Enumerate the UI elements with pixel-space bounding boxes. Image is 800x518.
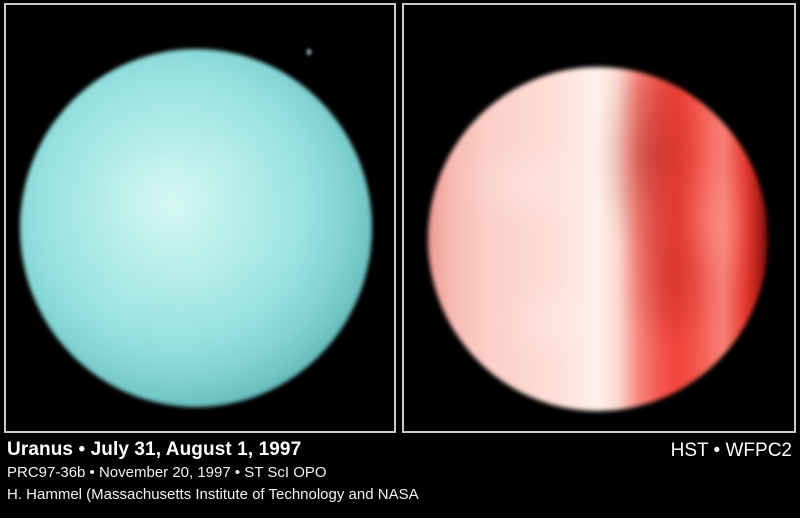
image-panel-visible-light[interactable]	[4, 3, 396, 433]
image-panel-near-infrared[interactable]	[402, 3, 796, 433]
sky-background-infrared	[404, 5, 794, 431]
release-id-line: PRC97-36b • November 20, 1997 • ST ScI O…	[7, 462, 627, 484]
credit-line: H. Hammel (Massachusetts Institute of Te…	[7, 484, 627, 506]
uranus-cloud-mottle-visible	[20, 49, 372, 407]
uranus-moon-icon	[306, 46, 312, 58]
caption-block: Uranus • July 31, August 1, 1997 PRC97-3…	[0, 434, 800, 518]
page-title: Uranus • July 31, August 1, 1997	[7, 438, 627, 462]
sky-background-visible	[6, 5, 394, 431]
uranus-cloud-bands-infrared	[428, 67, 768, 411]
caption-text-group: Uranus • July 31, August 1, 1997 PRC97-3…	[7, 438, 627, 506]
instrument-credit: HST • WFPC2	[671, 439, 792, 463]
image-release-poster: Uranus • July 31, August 1, 1997 PRC97-3…	[0, 0, 800, 518]
